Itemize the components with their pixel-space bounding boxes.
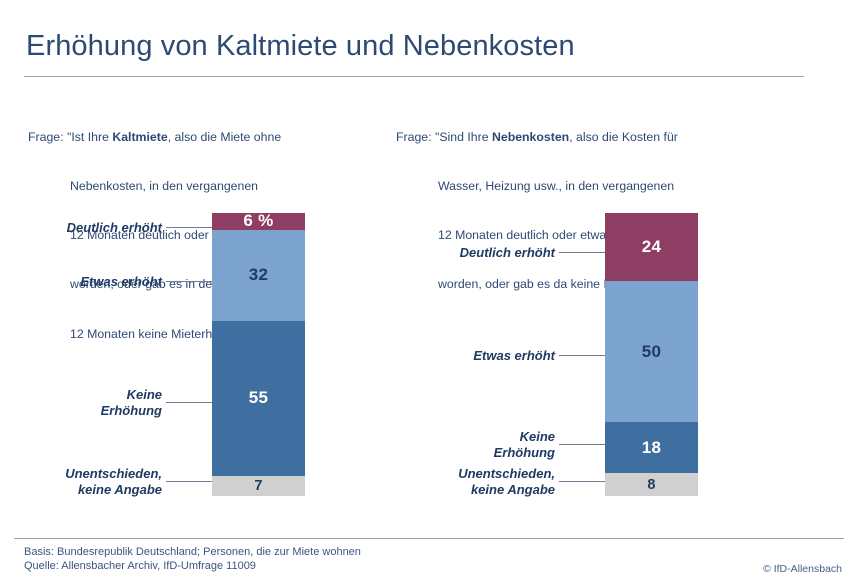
question-left-keyword: Kaltmiete	[112, 130, 167, 144]
label-etwas-erhoeht-left: Etwas erhöht	[16, 274, 162, 290]
leader-line-deutlich-left	[166, 227, 212, 228]
segment-keine-erhoehung: 55	[212, 321, 305, 477]
leader-line-unentschieden-right	[559, 481, 605, 482]
footer-quelle: Quelle: Allensbacher Archiv, IfD-Umfrage…	[24, 560, 256, 574]
stacked-bar-nebenkosten: 24 50 18 8	[605, 213, 698, 496]
segment-unentschieden: 7	[212, 476, 305, 496]
footer-basis: Basis: Bundesrepublik Deutschland; Perso…	[24, 546, 361, 560]
chart-page: Erhöhung von Kaltmiete und Nebenkosten F…	[0, 0, 858, 581]
segment-value-keine: 18	[642, 438, 662, 458]
page-title: Erhöhung von Kaltmiete und Nebenkosten	[26, 30, 575, 63]
label-unentschieden-left: Unentschieden, keine Angabe	[16, 466, 162, 498]
question-right-keyword: Nebenkosten	[492, 130, 569, 144]
segment-value-keine: 55	[249, 388, 269, 408]
segment-deutlich-erhoeht: 24	[605, 213, 698, 281]
segment-value-deutlich: 24	[642, 237, 662, 257]
stacked-bar-kaltmiete: 6 % 32 55 7	[212, 213, 305, 496]
copyright-notice: © IfD-Allensbach	[763, 563, 842, 575]
segment-deutlich-erhoeht: 6 %	[212, 213, 305, 230]
leader-line-etwas-left	[166, 281, 212, 282]
segment-value-deutlich: 6 %	[243, 211, 273, 231]
title-divider	[24, 76, 804, 77]
leader-line-unentschieden-left	[166, 481, 212, 482]
question-right-rest: , also die Kosten für	[569, 130, 678, 144]
segment-value-unentschieden: 7	[254, 478, 262, 494]
segment-etwas-erhoeht: 50	[605, 281, 698, 423]
question-left-line2: Nebenkosten, in den vergangenen	[28, 178, 294, 194]
leader-line-etwas-right	[559, 355, 605, 356]
question-left-rest: , also die Miete ohne	[168, 130, 281, 144]
label-deutlich-erhoeht-left: Deutlich erhöht	[16, 220, 162, 236]
leader-line-keine-right	[559, 444, 605, 445]
label-deutlich-erhoeht-right: Deutlich erhöht	[409, 245, 555, 261]
segment-value-unentschieden: 8	[647, 477, 655, 493]
segment-value-etwas: 32	[249, 265, 269, 285]
footer-divider	[14, 538, 844, 539]
question-right-line2: Wasser, Heizung usw., in den vergangenen	[396, 178, 678, 194]
label-keine-erhoehung-left: Keine Erhöhung	[16, 387, 162, 419]
label-etwas-erhoeht-right: Etwas erhöht	[409, 348, 555, 364]
segment-etwas-erhoeht: 32	[212, 230, 305, 321]
question-right-lead: Frage: "Sind Ihre	[396, 130, 492, 144]
segment-keine-erhoehung: 18	[605, 422, 698, 473]
leader-line-keine-left	[166, 402, 212, 403]
label-unentschieden-right: Unentschieden, keine Angabe	[409, 466, 555, 498]
segment-value-etwas: 50	[642, 342, 662, 362]
label-keine-erhoehung-right: Keine Erhöhung	[409, 429, 555, 461]
leader-line-deutlich-right	[559, 252, 605, 253]
question-left-lead: Frage: "Ist Ihre	[28, 130, 112, 144]
segment-unentschieden: 8	[605, 473, 698, 496]
